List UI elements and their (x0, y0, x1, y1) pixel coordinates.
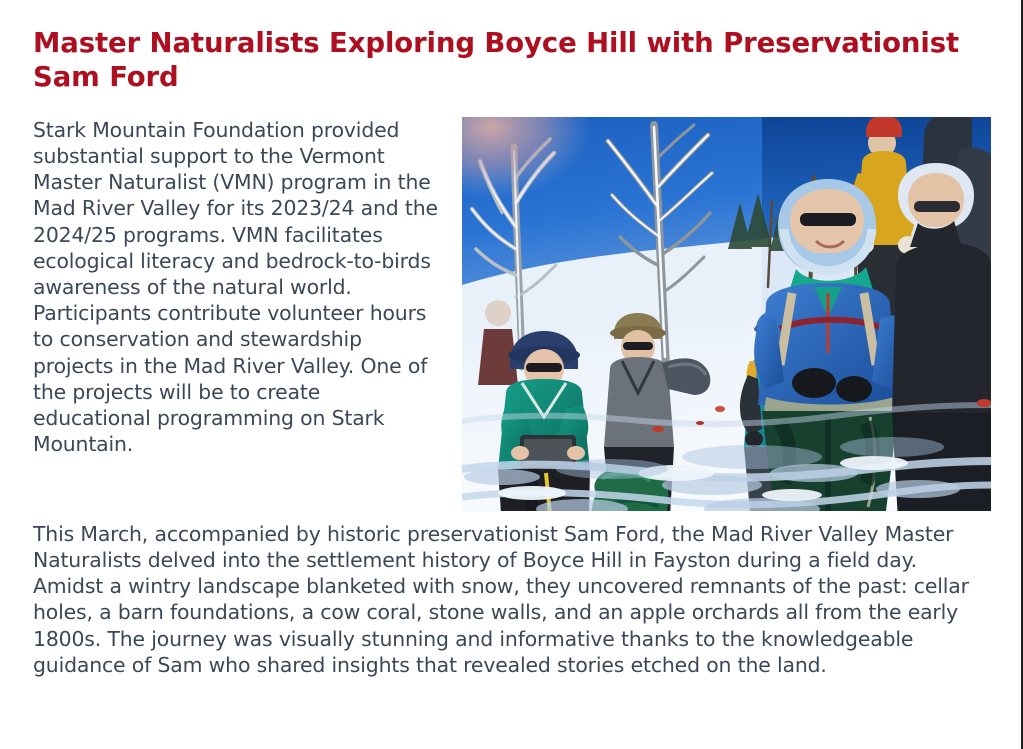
article-body: Stark Mountain Foundation provided subst… (33, 117, 991, 678)
article-photo-figure (462, 117, 991, 511)
photo-illustration (462, 117, 991, 511)
page-title: Master Naturalists Exploring Boyce Hill … (33, 27, 983, 95)
winter-field-day-group-photo (462, 117, 991, 511)
article-container: Master Naturalists Exploring Boyce Hill … (33, 27, 991, 678)
second-paragraph: This March, accompanied by historic pres… (33, 521, 991, 678)
article-page: Master Naturalists Exploring Boyce Hill … (0, 0, 1023, 749)
lead-paragraph: Stark Mountain Foundation provided subst… (33, 117, 443, 458)
